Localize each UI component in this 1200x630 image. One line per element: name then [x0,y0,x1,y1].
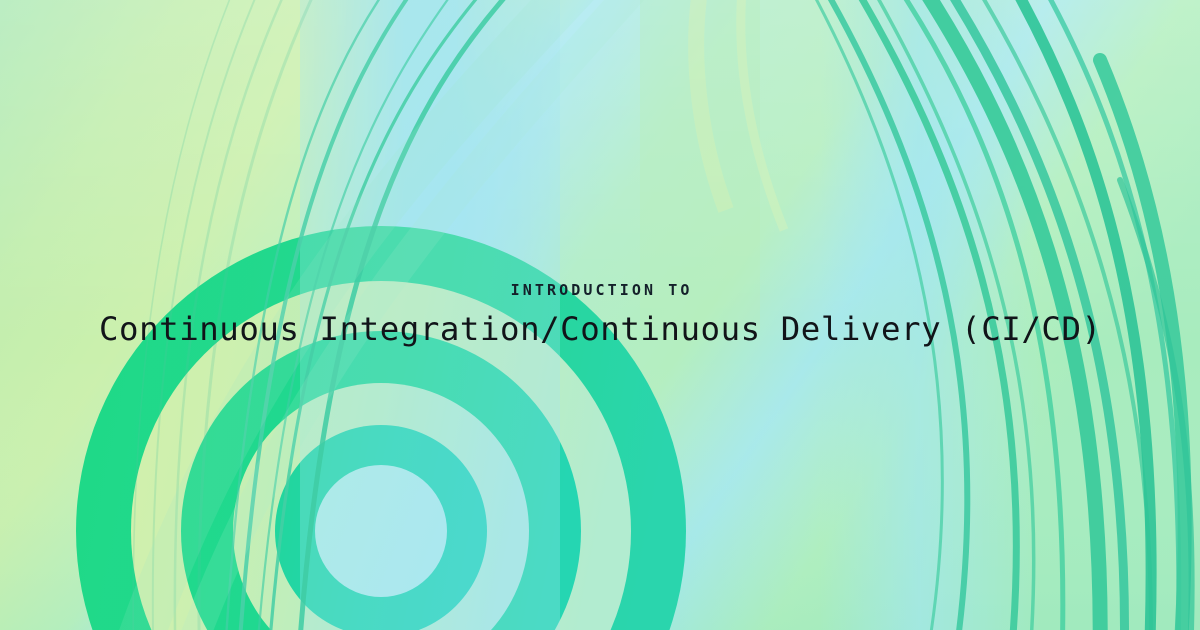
background-artwork [0,0,1200,630]
slide-canvas: INTRODUCTION TO Continuous Integration/C… [0,0,1200,630]
